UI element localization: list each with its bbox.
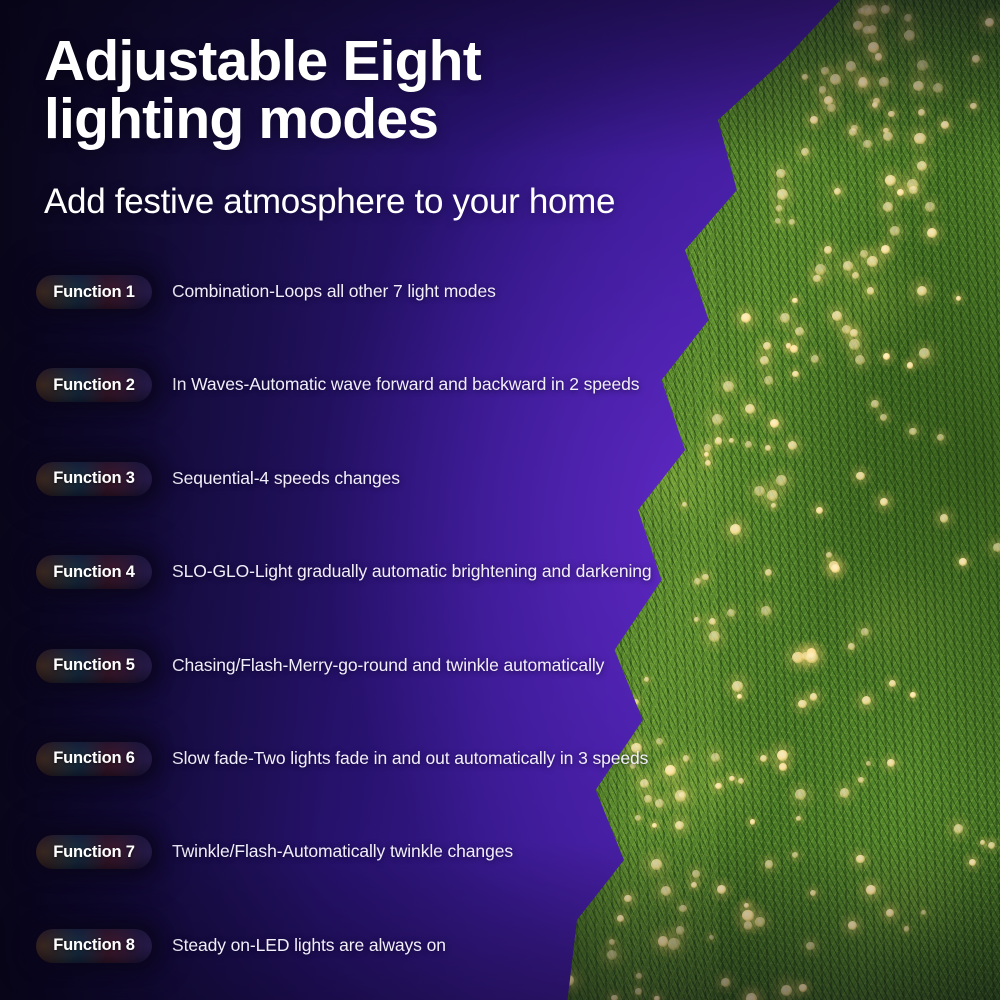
page-subtitle: Add festive atmosphere to your home bbox=[44, 182, 615, 222]
function-row: Function 1Combination-Loops all other 7 … bbox=[0, 275, 1000, 368]
function-description: SLO-GLO-Light gradually automatic bright… bbox=[172, 555, 652, 582]
function-badge-3: Function 3 bbox=[36, 462, 152, 496]
product-feature-banner: Adjustable Eight lighting modes Add fest… bbox=[0, 0, 1000, 1000]
function-description: Steady on-LED lights are always on bbox=[172, 929, 446, 956]
function-badge-label: Function 1 bbox=[53, 283, 134, 302]
function-badge-6: Function 6 bbox=[36, 742, 152, 776]
function-description: Slow fade-Two lights fade in and out aut… bbox=[172, 742, 648, 769]
function-badge-1: Function 1 bbox=[36, 275, 152, 309]
function-description: Combination-Loops all other 7 light mode… bbox=[172, 275, 496, 302]
content-layer: Adjustable Eight lighting modes Add fest… bbox=[0, 0, 1000, 1000]
function-row: Function 2In Waves-Automatic wave forwar… bbox=[0, 368, 1000, 461]
function-row: Function 8Steady on-LED lights are alway… bbox=[0, 929, 1000, 1000]
function-badge-label: Function 5 bbox=[53, 656, 134, 675]
function-description: Sequential-4 speeds changes bbox=[172, 462, 400, 489]
page-title: Adjustable Eight lighting modes bbox=[44, 32, 684, 148]
function-badge-label: Function 2 bbox=[53, 376, 134, 395]
function-badge-label: Function 3 bbox=[53, 469, 134, 488]
function-description: In Waves-Automatic wave forward and back… bbox=[172, 368, 639, 395]
function-badge-5: Function 5 bbox=[36, 649, 152, 683]
function-description: Chasing/Flash-Merry-go-round and twinkle… bbox=[172, 649, 604, 676]
function-badge-8: Function 8 bbox=[36, 929, 152, 963]
function-row: Function 5Chasing/Flash-Merry-go-round a… bbox=[0, 649, 1000, 742]
title-line-1: Adjustable Eight bbox=[44, 32, 684, 90]
title-line-2: lighting modes bbox=[44, 90, 684, 148]
function-row: Function 3Sequential-4 speeds changes bbox=[0, 462, 1000, 555]
function-badge-label: Function 7 bbox=[53, 843, 134, 862]
function-badge-4: Function 4 bbox=[36, 555, 152, 589]
function-badge-2: Function 2 bbox=[36, 368, 152, 402]
function-row: Function 4SLO-GLO-Light gradually automa… bbox=[0, 555, 1000, 648]
function-badge-label: Function 4 bbox=[53, 563, 134, 582]
function-list: Function 1Combination-Loops all other 7 … bbox=[0, 275, 1000, 1000]
function-badge-7: Function 7 bbox=[36, 835, 152, 869]
function-description: Twinkle/Flash-Automatically twinkle chan… bbox=[172, 835, 513, 862]
function-row: Function 7Twinkle/Flash-Automatically tw… bbox=[0, 835, 1000, 928]
function-badge-label: Function 8 bbox=[53, 936, 134, 955]
function-row: Function 6Slow fade-Two lights fade in a… bbox=[0, 742, 1000, 835]
function-badge-label: Function 6 bbox=[53, 749, 134, 768]
